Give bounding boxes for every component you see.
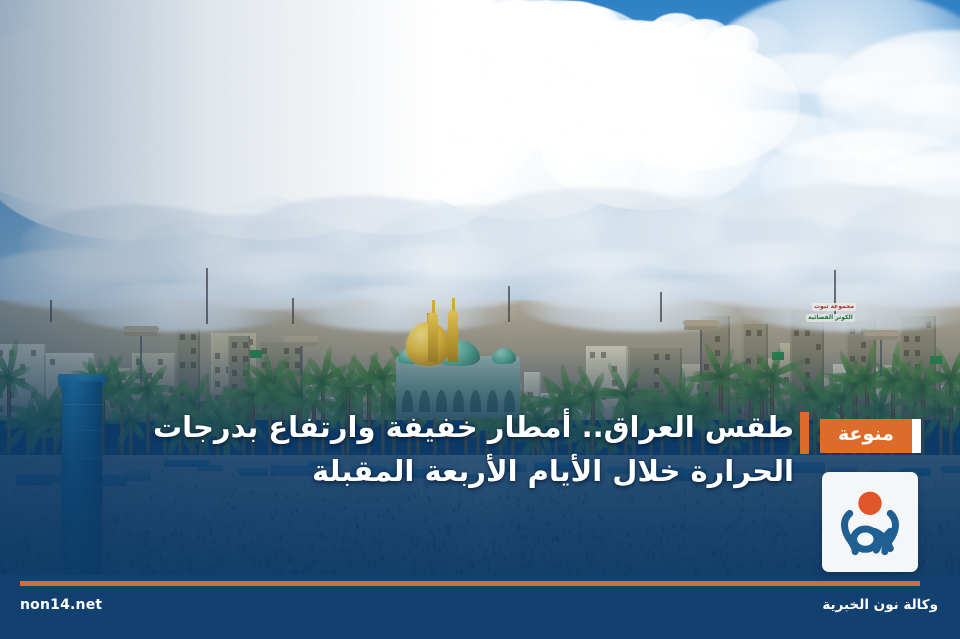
crowd-figure	[955, 487, 957, 491]
crowd-figure	[865, 463, 866, 466]
shade-canopy	[941, 466, 960, 473]
green-flag	[930, 356, 942, 364]
crowd-figure	[924, 543, 927, 549]
crowd-figure	[438, 547, 441, 553]
crowd-figure	[415, 542, 418, 548]
crowd-figure	[524, 526, 526, 531]
crowd-figure	[383, 514, 385, 519]
crowd-figure	[14, 487, 16, 491]
crowd-figure	[212, 563, 215, 570]
crowd-figure	[354, 539, 357, 545]
crowd-figure	[147, 553, 150, 560]
crowd-figure	[660, 553, 663, 560]
cloud-puff	[290, 286, 520, 332]
crowd-figure	[238, 546, 241, 552]
crowd-figure	[428, 561, 431, 568]
crowd-figure	[952, 561, 955, 568]
crowd-figure	[439, 540, 442, 546]
crowd-figure	[627, 532, 629, 538]
crowd-figure	[378, 546, 381, 552]
crowd-figure	[295, 566, 298, 573]
crowd-figure	[818, 532, 820, 538]
crowd-figure	[598, 544, 601, 550]
crowd-figure	[697, 500, 699, 504]
crowd-figure	[136, 553, 139, 560]
crowd-figure	[738, 550, 741, 556]
crowd-figure	[418, 520, 420, 525]
crowd-figure	[525, 534, 528, 540]
crowd-figure	[812, 527, 814, 532]
crowd-figure	[592, 528, 594, 533]
crowd-figure	[214, 513, 216, 518]
headline: طقس العراق.. أمطار خفيفة وارتفاع بدرجات …	[154, 405, 794, 493]
crowd-figure	[160, 512, 162, 517]
building-window	[243, 342, 248, 348]
crowd-figure	[510, 552, 513, 558]
crowd-figure	[745, 527, 747, 532]
crowd-figure	[279, 566, 282, 573]
crowd-figure	[726, 553, 729, 560]
crowd-figure	[141, 567, 144, 574]
category-badge[interactable]: منوعة	[820, 419, 912, 453]
crowd-figure	[710, 495, 712, 499]
crowd-figure	[324, 566, 327, 573]
crowd-figure	[227, 501, 229, 505]
crowd-figure	[333, 545, 336, 551]
crowd-figure	[647, 553, 650, 560]
shade-canopy	[789, 462, 824, 473]
crowd-figure	[956, 543, 959, 549]
crowd-figure	[464, 565, 467, 572]
orange-dot-icon	[858, 492, 881, 515]
crowd-figure	[629, 565, 632, 572]
crowd-figure	[470, 549, 473, 555]
crowd-figure	[601, 538, 604, 544]
crowd-figure	[129, 530, 131, 536]
crowd-figure	[550, 549, 553, 555]
antenna-mast	[292, 298, 294, 324]
crowd-figure	[275, 493, 277, 497]
crowd-figure	[540, 567, 543, 574]
crowd-figure	[779, 563, 782, 570]
crowd-figure	[585, 498, 587, 502]
crowd-figure	[537, 504, 539, 508]
crowd-figure	[719, 502, 721, 506]
crowd-figure	[389, 495, 391, 499]
crowd-figure	[711, 550, 714, 556]
antenna-mast	[508, 286, 510, 322]
crowd-figure	[594, 534, 597, 540]
crowd-figure	[147, 530, 149, 536]
crowd-figure	[770, 509, 772, 514]
crowd-figure	[566, 497, 568, 501]
crowd-figure	[312, 559, 315, 566]
crowd-figure	[290, 511, 292, 516]
crowd-figure	[672, 523, 674, 528]
crowd-figure	[290, 506, 292, 511]
crowd-figure	[922, 559, 925, 566]
crowd-figure	[399, 508, 401, 513]
crowd-figure	[485, 506, 487, 511]
crowd-figure	[763, 527, 765, 532]
crowd-figure	[275, 537, 278, 543]
category-badge-wrapper[interactable]: منوعة	[820, 419, 921, 453]
crowd-figure	[103, 506, 105, 511]
crowd-figure	[713, 544, 716, 550]
crowd-figure	[178, 537, 181, 543]
crowd-figure	[639, 530, 641, 536]
crowd-figure	[622, 495, 624, 499]
crowd-figure	[551, 537, 554, 543]
crowd-figure	[300, 551, 303, 557]
crowd-figure	[683, 536, 686, 542]
crowd-figure	[126, 494, 128, 498]
crowd-figure	[287, 515, 289, 520]
crowd-figure	[682, 526, 684, 531]
crowd-figure	[38, 553, 41, 560]
crowd-figure	[777, 522, 779, 527]
crowd-figure	[231, 494, 233, 498]
crowd-figure	[546, 562, 549, 569]
crowd-figure	[280, 546, 283, 552]
crowd-figure	[38, 491, 40, 495]
crowd-figure	[301, 568, 304, 575]
crowd-figure	[458, 497, 460, 501]
news-card: مجموعة ثبوتالكوثر الفضائية طقس العراق.. …	[0, 0, 960, 639]
crowd-figure	[402, 553, 405, 560]
crowd-figure	[116, 519, 118, 524]
crowd-figure	[376, 538, 379, 544]
crowd-figure	[737, 533, 739, 539]
crowd-figure	[950, 552, 953, 558]
crowd-figure	[181, 546, 184, 552]
cloud-puff	[520, 280, 770, 332]
crowd-figure	[190, 505, 192, 509]
crowd-figure	[807, 554, 810, 561]
crowd-figure	[667, 511, 669, 516]
crowd-figure	[410, 503, 412, 507]
building-window	[757, 330, 762, 336]
crowd-figure	[193, 563, 196, 570]
crowd-figure	[569, 504, 571, 508]
crowd-figure	[582, 501, 584, 505]
crowd-figure	[956, 555, 959, 562]
crowd-figure	[775, 533, 777, 539]
crowd-figure	[137, 533, 139, 539]
crowd-figure	[342, 508, 344, 513]
crowd-figure	[412, 536, 415, 542]
crowd-figure	[609, 527, 611, 532]
crowd-figure	[272, 515, 274, 520]
crowd-figure	[112, 486, 114, 490]
crowd-figure	[356, 524, 358, 529]
crowd-figure	[569, 568, 572, 575]
building-window	[805, 330, 810, 336]
rooftop-sign: الكوثر الفضائية	[806, 314, 855, 322]
crowd-figure	[107, 551, 110, 557]
street-lamp	[880, 330, 882, 376]
crowd-figure	[183, 514, 185, 519]
crowd-figure	[498, 495, 500, 499]
crowd-figure	[518, 504, 520, 508]
crowd-figure	[727, 514, 729, 519]
crowd-figure	[682, 541, 685, 547]
crowd-figure	[432, 533, 434, 539]
crowd-figure	[270, 513, 272, 518]
crowd-figure	[668, 535, 671, 541]
crowd-figure	[247, 501, 249, 505]
crowd-figure	[199, 545, 202, 551]
crowd-figure	[534, 516, 536, 521]
crowd-figure	[373, 559, 376, 566]
crowd-figure	[5, 484, 7, 488]
crowd-figure	[537, 537, 540, 543]
crowd-figure	[348, 560, 351, 567]
crowd-figure	[190, 517, 192, 522]
crowd-figure	[729, 498, 731, 502]
crowd-figure	[315, 559, 318, 566]
crowd-figure	[600, 517, 602, 522]
crowd-figure	[578, 526, 580, 531]
crowd-figure	[772, 537, 775, 543]
building-window	[794, 330, 799, 336]
crowd-figure	[521, 544, 524, 550]
crowd-figure	[123, 511, 125, 516]
crowd-figure	[364, 515, 366, 520]
shrine-green-dome-side2	[492, 348, 516, 364]
crowd-figure	[113, 525, 115, 530]
crowd-figure	[155, 549, 158, 555]
crowd-figure	[654, 541, 657, 547]
shrine-minaret-right	[448, 310, 458, 362]
crowd-figure	[446, 548, 449, 554]
crowd-figure	[363, 528, 365, 533]
crowd-figure	[740, 516, 742, 521]
crowd-figure	[277, 547, 280, 553]
crowd-figure	[437, 510, 439, 515]
crowd-figure	[17, 503, 19, 507]
crowd-figure	[392, 515, 394, 520]
crowd-figure	[134, 542, 137, 548]
crowd-figure	[467, 518, 469, 523]
crowd-figure	[671, 494, 673, 498]
crowd-figure	[602, 566, 605, 573]
crowd-figure	[139, 541, 142, 547]
crowd-figure	[362, 553, 365, 559]
crowd-figure	[508, 496, 510, 500]
crowd-figure	[577, 514, 579, 519]
crowd-figure	[226, 537, 229, 543]
crowd-figure	[534, 543, 537, 549]
crowd-figure	[720, 552, 723, 558]
crowd-figure	[664, 561, 667, 568]
crowd-figure	[498, 550, 501, 556]
crowd-figure	[286, 495, 288, 499]
crowd-figure	[266, 503, 268, 507]
crowd-figure	[109, 520, 111, 525]
crowd-figure	[701, 522, 703, 527]
crowd-figure	[197, 534, 200, 540]
crowd-figure	[646, 529, 648, 534]
crowd-figure	[273, 547, 276, 553]
crowd-figure	[360, 545, 363, 551]
crowd-figure	[277, 498, 279, 502]
crowd-figure	[35, 552, 38, 558]
crowd-figure	[227, 525, 229, 530]
crowd-figure	[280, 533, 282, 539]
crowd-figure	[568, 530, 570, 536]
crowd-figure	[791, 537, 794, 543]
crowd-figure	[921, 548, 924, 554]
crowd-figure	[929, 471, 930, 474]
crowd-figure	[263, 540, 266, 546]
crowd-figure	[693, 522, 695, 527]
building-window	[904, 336, 909, 342]
crowd-figure	[458, 505, 460, 509]
crowd-figure	[298, 500, 300, 504]
crowd-figure	[133, 512, 135, 517]
crowd-figure	[812, 511, 814, 516]
crowd-figure	[773, 521, 775, 526]
crowd-figure	[115, 548, 118, 554]
badge-tail	[912, 419, 921, 453]
crowd-figure	[625, 514, 627, 519]
crowd-figure	[780, 528, 782, 533]
crowd-figure	[345, 527, 347, 532]
crowd-figure	[391, 567, 394, 574]
crowd-figure	[32, 493, 34, 497]
crowd-figure	[564, 530, 566, 536]
crowd-figure	[184, 555, 187, 562]
crowd-figure	[517, 526, 519, 531]
crowd-figure	[48, 553, 51, 560]
site-logo[interactable]	[822, 472, 918, 572]
crowd-figure	[733, 510, 735, 515]
crowd-figure	[358, 500, 360, 504]
crowd-figure	[652, 553, 655, 560]
crowd-figure	[742, 496, 744, 500]
crowd-figure	[918, 502, 920, 506]
crowd-figure	[725, 527, 727, 532]
crowd-figure	[222, 549, 225, 555]
crowd-figure	[684, 505, 686, 509]
crowd-figure	[733, 518, 735, 523]
crowd-figure	[8, 553, 11, 559]
crowd-figure	[541, 498, 543, 502]
headline-line-2: الحرارة خلال الأيام الأربعة المقبلة	[154, 449, 794, 493]
crowd-figure	[953, 494, 955, 498]
crowd-figure	[530, 549, 533, 555]
crowd-figure	[187, 502, 189, 506]
crowd-figure	[799, 531, 801, 537]
crowd-figure	[934, 481, 936, 484]
crowd-figure	[371, 539, 374, 545]
crowd-figure	[381, 539, 384, 545]
crowd-figure	[416, 535, 419, 541]
background-photo: مجموعة ثبوتالكوثر الفضائية	[0, 0, 960, 639]
crowd-figure	[42, 543, 45, 549]
crowd-figure	[302, 532, 304, 538]
footer-bar: non14.net وكالة نون الخبرية	[0, 575, 960, 639]
crowd-figure	[784, 545, 787, 551]
crowd-figure	[521, 534, 524, 540]
crowd-figure	[408, 549, 411, 555]
crowd-figure	[795, 500, 797, 504]
crowd-figure	[203, 536, 206, 542]
crowd-figure	[652, 526, 654, 531]
crowd-figure	[151, 564, 154, 571]
crowd-figure	[467, 566, 470, 573]
crowd-figure	[714, 550, 717, 556]
crowd-figure	[759, 495, 761, 499]
crowd-figure	[131, 561, 134, 568]
crowd-figure	[731, 525, 733, 530]
crowd-figure	[348, 548, 351, 554]
crowd-figure	[111, 528, 113, 533]
crowd-figure	[233, 505, 235, 509]
crowd-figure	[163, 542, 166, 548]
crowd-figure	[715, 562, 718, 569]
crowd-figure	[506, 535, 509, 541]
crowd-figure	[487, 505, 489, 509]
crowd-figure	[227, 559, 230, 566]
street-lamp	[300, 336, 302, 376]
crowd-figure	[636, 565, 639, 572]
crowd-figure	[36, 522, 38, 527]
crowd-figure	[263, 527, 265, 532]
crowd-figure	[53, 549, 56, 555]
crowd-figure	[21, 541, 24, 547]
crowd-figure	[187, 513, 189, 518]
footer-site-url[interactable]: non14.net	[20, 597, 102, 613]
crowd-figure	[619, 516, 621, 521]
crowd-figure	[250, 540, 253, 546]
crowd-figure	[398, 550, 401, 556]
crowd-figure	[306, 510, 308, 515]
crowd-figure	[773, 499, 775, 503]
crowd-figure	[200, 565, 203, 572]
crowd-figure	[336, 528, 338, 533]
crowd-figure	[322, 498, 324, 502]
crowd-figure	[753, 519, 755, 524]
crowd-figure	[584, 493, 586, 497]
crowd-figure	[10, 547, 13, 553]
crowd-figure	[356, 514, 358, 519]
crowd-figure	[113, 518, 115, 523]
crowd-figure	[50, 518, 52, 523]
crowd-figure	[51, 534, 54, 540]
crowd-figure	[260, 532, 262, 538]
crowd-figure	[477, 558, 480, 565]
crowd-figure	[586, 568, 589, 575]
crowd-figure	[696, 516, 698, 521]
crowd-figure	[642, 521, 644, 526]
crowd-figure	[765, 519, 767, 524]
crowd-figure	[390, 530, 392, 536]
crowd-figure	[533, 536, 536, 542]
crowd-figure	[276, 509, 278, 514]
crowd-figure	[231, 506, 233, 511]
crowd-figure	[377, 498, 379, 502]
crowd-figure	[558, 564, 561, 571]
crowd-figure	[919, 533, 921, 539]
crowd-figure	[422, 555, 425, 562]
crowd-figure	[16, 544, 19, 550]
crowd-figure	[388, 559, 391, 566]
crowd-figure	[162, 535, 165, 541]
crowd-figure	[721, 499, 723, 503]
cloud-puff	[651, 106, 729, 156]
